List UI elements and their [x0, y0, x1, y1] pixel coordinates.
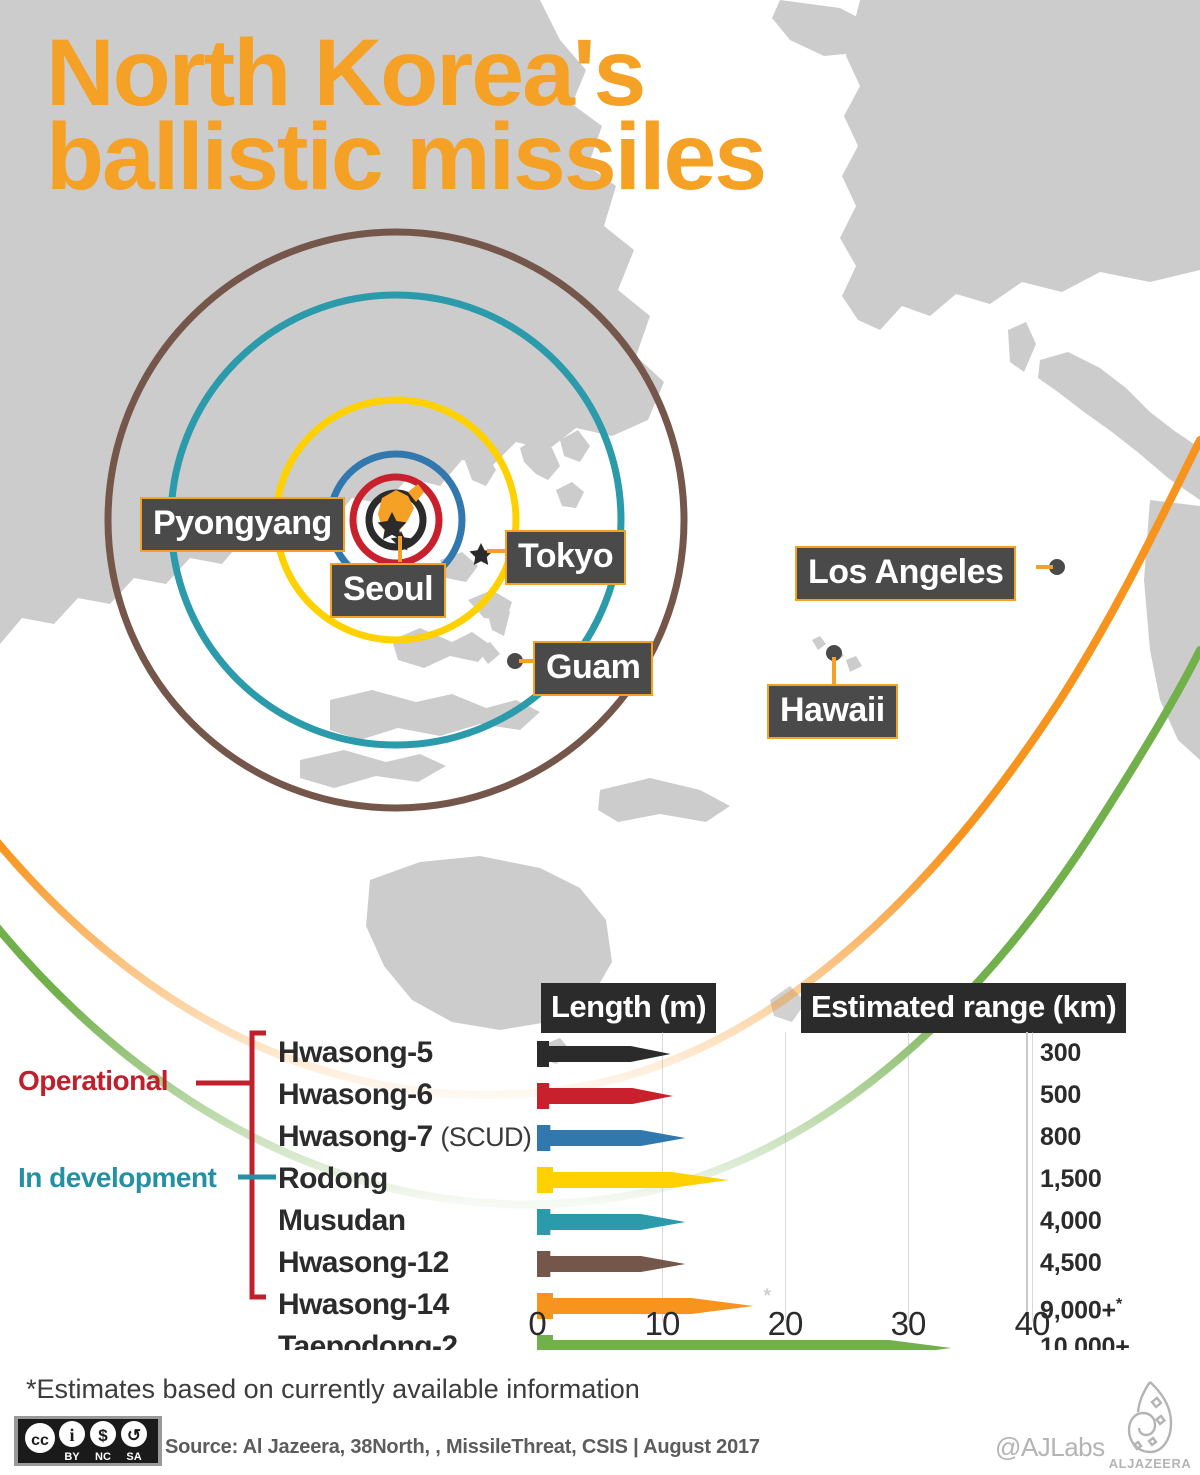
cc-by-label: BY — [64, 1451, 80, 1463]
missile-name-suffix: (SCUD) — [440, 1122, 531, 1152]
svg-text:↺: ↺ — [127, 1426, 141, 1445]
svg-text:cc: cc — [31, 1432, 49, 1449]
missile-bar — [537, 1242, 691, 1284]
footer: *Estimates based on currently available … — [0, 1350, 1200, 1475]
x-tick-0: 0 — [528, 1305, 545, 1343]
range-value-text: 4,000 — [1040, 1207, 1102, 1235]
svg-text:i: i — [69, 1425, 74, 1445]
range-value: 300 — [1040, 1034, 1190, 1072]
range-value-text: 500 — [1040, 1081, 1081, 1109]
missile-name-text: Hwasong-6 — [278, 1078, 433, 1111]
missile-bar — [537, 1074, 679, 1116]
title-line-2: ballistic missiles — [46, 116, 765, 200]
infographic-page: North Korea's ballistic missiles Pyongya… — [0, 0, 1200, 1475]
range-value-text: 1,500 — [1040, 1165, 1102, 1193]
page-title: North Korea's ballistic missiles — [46, 32, 765, 199]
ajlabs-handle: @AJLabs — [995, 1432, 1105, 1463]
cc-sa-label: SA — [126, 1451, 141, 1463]
x-tick-30: 30 — [891, 1305, 926, 1343]
city-label-seoul: Seoul — [330, 563, 446, 618]
x-tick-40: 40 — [1015, 1305, 1050, 1343]
legend-in-development: In development — [18, 1162, 216, 1194]
range-value: 500 — [1040, 1076, 1190, 1114]
legend-operational: Operational — [18, 1065, 168, 1097]
missile-bar — [537, 1032, 677, 1074]
column-header-length: Length (m) — [541, 983, 716, 1033]
column-header-range: Estimated range (km) — [801, 983, 1126, 1033]
missile-name-text: Hwasong-12 — [278, 1246, 449, 1279]
estimates-note: *Estimates based on currently available … — [26, 1374, 640, 1405]
missile-bar — [537, 1116, 691, 1158]
range-value: 1,500 — [1040, 1160, 1190, 1198]
svg-text:$: $ — [98, 1426, 108, 1445]
city-label-guam: Guam — [533, 641, 653, 696]
range-value: 4,500 — [1040, 1244, 1190, 1282]
aljazeera-wordmark: ALJAZEERA — [1109, 1456, 1192, 1471]
range-value: 4,000 — [1040, 1202, 1190, 1240]
range-value-text: 300 — [1040, 1039, 1081, 1067]
city-label-los-angeles: Los Angeles — [795, 546, 1016, 601]
range-value-text: 4,500 — [1040, 1249, 1102, 1277]
city-label-tokyo: Tokyo — [505, 530, 626, 585]
missile-name-text: Hwasong-5 — [278, 1036, 433, 1069]
city-label-hawaii: Hawaii — [767, 684, 898, 739]
city-label-pyongyang: Pyongyang — [140, 497, 345, 552]
al-jazeera-logo: ALJAZEERA — [1105, 1378, 1195, 1473]
x-tick-20: 20 — [768, 1305, 803, 1343]
creative-commons-badge: cc i $ ↺ BY NC SA — [14, 1416, 162, 1466]
range-value-text: 800 — [1040, 1123, 1081, 1151]
cc-nc-label: NC — [95, 1451, 111, 1463]
range-value: 800 — [1040, 1118, 1190, 1156]
x-tick-10: 10 — [645, 1305, 680, 1343]
missile-bar — [537, 1158, 735, 1200]
missile-bar — [537, 1200, 691, 1242]
source-credit: Source: Al Jazeera, 38North, , MissileTh… — [165, 1436, 760, 1459]
missile-name-text: Hwasong-7 — [278, 1120, 433, 1153]
